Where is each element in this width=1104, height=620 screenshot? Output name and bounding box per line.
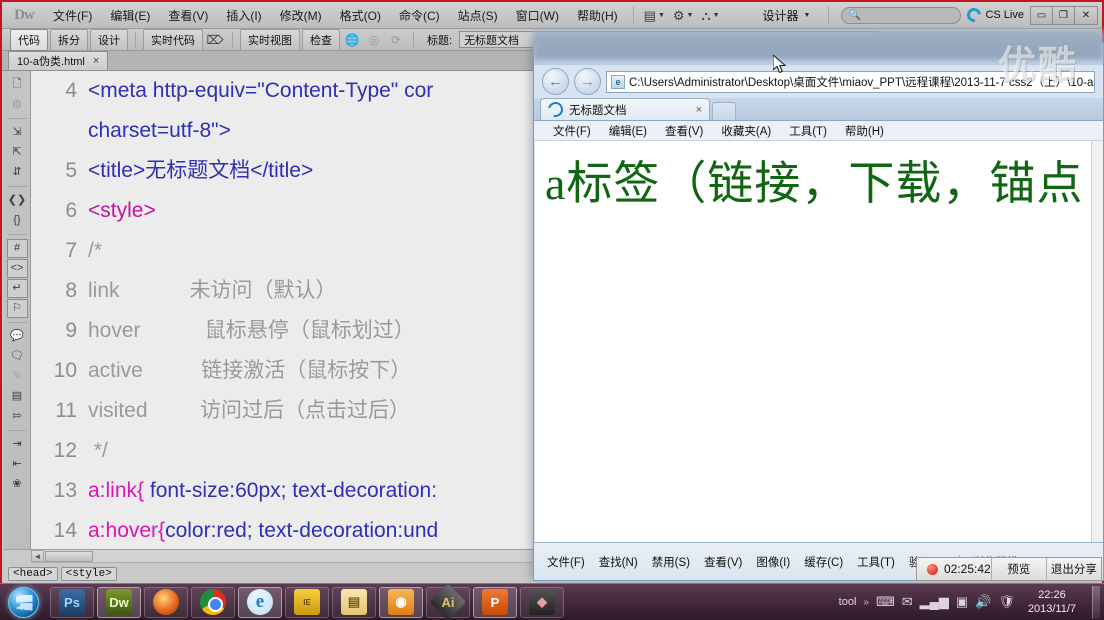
layout-dropdown[interactable]: ▤▼ (640, 7, 669, 24)
extend-dropdown[interactable]: ⚙▼ (669, 7, 698, 24)
code-text[interactable]: <meta http-equiv="Content-Type" cor (88, 71, 433, 111)
minimize-button[interactable]: ▭ (1031, 7, 1053, 24)
balance-braces-icon[interactable]: {} (7, 211, 28, 230)
menu-commands[interactable]: 命令(C) (390, 3, 449, 28)
toolbar-divider (135, 32, 136, 48)
recording-time: 02:25:42 (944, 562, 991, 576)
menu-modify[interactable]: 修改(M) (271, 3, 331, 28)
format-source-code-icon[interactable]: ❀ (7, 475, 28, 494)
line-number: 4 (31, 71, 88, 111)
toolbar-divider (232, 32, 233, 48)
collapse-full-tag-icon[interactable]: ⇲ (7, 123, 28, 142)
cs-live-icon (965, 5, 984, 24)
menu-window[interactable]: 窗口(W) (507, 3, 568, 28)
site-dropdown[interactable]: ⛬▼ (697, 7, 723, 24)
browser-check-icon[interactable]: ◎ (364, 31, 384, 48)
restore-button[interactable]: ❐ (1053, 7, 1075, 24)
chevron-down-icon: ▼ (687, 12, 694, 19)
new-tab-button[interactable] (712, 102, 736, 120)
taskbar-item-dreamweaver[interactable]: Dw (97, 587, 141, 618)
window-controls: ▭ ❐ ✕ (1030, 6, 1098, 25)
code-token: hover 鼠标悬停（鼠标划过） (88, 319, 415, 342)
exit-share-button[interactable]: 退出分享 (1047, 561, 1101, 577)
taskbar-item-ietester[interactable]: IE (285, 587, 329, 618)
workspace-switcher[interactable]: 设计器 ▼ (757, 5, 817, 26)
code-token: link 未访问（默认） (88, 279, 337, 302)
clock-time: 22:26 (1028, 588, 1076, 602)
rail-divider (8, 234, 27, 235)
syntax-error-alerts-icon[interactable]: ⚐ (7, 299, 28, 318)
taskbar-item-powerpoint[interactable]: P (473, 587, 517, 618)
photoshop-icon: Ps (59, 589, 85, 615)
internet-explorer-icon: e (247, 589, 273, 615)
code-token: active 链接激活（鼠标按下） (88, 359, 411, 382)
rail-divider (8, 322, 27, 323)
menu-insert[interactable]: 插入(I) (217, 3, 270, 28)
browser-navigation-row: ← → e C:\Users\Administrator\Desktop\桌面文… (534, 65, 1103, 98)
dreamweaver-icon: Dw (106, 589, 132, 615)
code-token: <style> (88, 199, 156, 222)
remove-comment-icon[interactable]: 🗨 (7, 347, 28, 366)
code-token: */ (88, 439, 108, 462)
code-text[interactable]: a:link{ font-size:60px; text-decoration: (88, 471, 437, 511)
devbar-disable[interactable]: 禁用(S) (645, 552, 697, 572)
workspace-label: 设计器 (763, 7, 799, 24)
taskbar-item-illustrator[interactable]: Ai (426, 587, 470, 618)
code-token: <meta http-equiv="Content-Type" cor (88, 79, 433, 102)
tag-chip-style[interactable]: <style> (61, 567, 117, 581)
dreamweaver-logo-icon: Dw (4, 3, 44, 27)
toolbar-divider (413, 32, 414, 48)
chevron-down-icon: ▼ (804, 12, 811, 19)
devbar-file[interactable]: 文件(F) (540, 552, 592, 572)
monitor-icon[interactable]: ▣ (956, 594, 968, 610)
page-icon: e (611, 75, 625, 89)
browser-window: ← → e C:\Users\Administrator\Desktop\桌面文… (533, 42, 1104, 581)
clock-date: 2013/11/7 (1028, 602, 1076, 616)
refresh-icon[interactable]: ⟳ (386, 31, 406, 48)
code-text[interactable]: <style> (88, 191, 156, 231)
address-text: C:\Users\Administrator\Desktop\桌面文件\miao… (629, 74, 1095, 90)
browser-menu-file[interactable]: 文件(F) (544, 121, 600, 141)
live-code-button[interactable]: 实时代码 (143, 29, 203, 51)
line-number: 6 (31, 191, 88, 231)
windows-logo-icon (8, 587, 39, 618)
icon-glyph: Ai (442, 595, 455, 610)
line-number: 13 (31, 471, 88, 511)
line-number: 8 (31, 271, 88, 311)
view-split-button[interactable]: 拆分 (50, 29, 88, 51)
line-number: 9 (31, 311, 88, 351)
menu-file[interactable]: 文件(F) (44, 3, 101, 28)
page-anchor-link[interactable]: a标签（链接，下载，锚点 (535, 141, 1091, 213)
back-button[interactable]: ← (542, 68, 569, 95)
volume-icon[interactable]: 🔊 (975, 594, 991, 610)
code-text[interactable]: hover 鼠标悬停（鼠标划过） (88, 311, 415, 351)
expand-all-icon[interactable]: ⇵ (7, 163, 28, 182)
preview-button[interactable]: 预览 (992, 561, 1046, 577)
code-token: font-size:60px; text-decoration: (144, 479, 437, 502)
code-text[interactable]: charset=utf-8"> (88, 111, 231, 151)
rail-divider (8, 118, 27, 119)
line-number: 5 (31, 151, 88, 191)
code-token: /* (88, 239, 102, 262)
code-token: color:red; text-decoration:und (165, 519, 438, 542)
code-text[interactable]: <title>无标题文档</title> (88, 151, 313, 191)
menubar-divider (828, 6, 829, 24)
cs-live-button[interactable]: CS Live (967, 8, 1024, 22)
chrome-icon (200, 589, 226, 615)
site-icon: ⛬ (701, 9, 710, 22)
code-text[interactable]: a:hover{color:red; text-decoration:und (88, 511, 438, 549)
rail-divider (8, 430, 27, 431)
code-text[interactable]: /* (88, 231, 102, 271)
gear-icon: ⚙ (673, 9, 685, 22)
browser-menu-favorites[interactable]: 收藏夹(A) (712, 121, 780, 141)
browser-menu-edit[interactable]: 编辑(E) (600, 121, 656, 141)
code-text[interactable]: visited 访问过后（点击过后） (88, 391, 410, 431)
network-icon[interactable]: ▂▄▆ (920, 594, 949, 610)
document-tab[interactable]: 10-a伪类.html × (8, 51, 108, 70)
taskbar: PsDweIE▤◉AiP◆ tool » ⌨ ✉ ▂▄▆ ▣ 🔊 🛡 22:26… (0, 583, 1104, 620)
screen-recorder-icon: ◆ (529, 589, 555, 615)
menu-format[interactable]: 格式(O) (331, 3, 390, 28)
line-numbers-icon[interactable]: # (7, 239, 28, 258)
taskbar-item-photoshop[interactable]: Ps (50, 587, 94, 618)
browser-tab[interactable]: 无标题文档 × (540, 98, 710, 120)
page-content: a标签（链接，下载，锚点 (535, 141, 1091, 542)
devbar-images[interactable]: 图像(I) (749, 552, 797, 572)
inspect-mode-icon[interactable]: ⌦ (205, 31, 225, 48)
scroll-left-icon[interactable]: ◄ (31, 550, 44, 562)
search-input[interactable]: 🔍 (841, 7, 961, 24)
ietester-icon: IE (294, 589, 320, 615)
taskbar-item-webcam[interactable]: ◉ (379, 587, 423, 618)
browser-tab-bar: 无标题文档 × (534, 98, 1103, 121)
tray-expand-icon[interactable]: » (863, 597, 869, 608)
code-token: a:hover{ (88, 519, 165, 542)
view-code-button[interactable]: 代码 (10, 29, 48, 51)
indent-code-icon[interactable]: ⇥ (7, 435, 28, 454)
illustrator-icon: Ai (430, 584, 467, 620)
devbar-cache[interactable]: 缓存(C) (797, 552, 850, 572)
live-view-button[interactable]: 实时视图 (240, 29, 300, 51)
code-token: <title>无标题文档</title> (88, 159, 313, 182)
file-explorer-icon: ▤ (341, 589, 367, 615)
view-design-button[interactable]: 设计 (90, 29, 128, 51)
messages-icon[interactable]: ✉ (902, 594, 913, 610)
line-number: 14 (31, 511, 88, 549)
hscroll-thumb[interactable] (45, 551, 93, 562)
taskbar-item-chrome[interactable] (191, 587, 235, 618)
mouse-cursor-icon (773, 55, 787, 75)
menubar-divider (633, 6, 634, 24)
select-parent-tag-icon[interactable]: ❮❯ (7, 191, 28, 210)
title-field-label: 标题: (427, 32, 452, 48)
collapse-selection-icon[interactable]: ⇱ (7, 143, 28, 162)
cs-live-label: CS Live (985, 9, 1024, 21)
chevron-down-icon: ▼ (658, 12, 665, 19)
rail-divider (8, 186, 27, 187)
outdent-code-icon[interactable]: ⇤ (7, 455, 28, 474)
close-button[interactable]: ✕ (1075, 7, 1097, 24)
system-tray: tool » ⌨ ✉ ▂▄▆ ▣ 🔊 🛡 22:26 2013/11/7 (839, 586, 1104, 619)
page-vertical-scrollbar[interactable] (1091, 141, 1103, 542)
close-icon[interactable]: × (696, 104, 702, 116)
powerpoint-icon: P (482, 589, 508, 615)
menubar-right-group: 设计器 ▼ 🔍 CS Live ▭ ❐ ✕ (757, 5, 1102, 26)
taskbar-item-firefox[interactable] (144, 587, 188, 618)
wrap-tag-icon[interactable]: ✎ (7, 367, 28, 386)
security-icon[interactable]: 🛡 (998, 594, 1015, 610)
start-button[interactable] (3, 586, 43, 619)
code-token: a:link{ (88, 479, 144, 502)
browser-menu-view[interactable]: 查看(V) (656, 121, 712, 141)
menu-edit[interactable]: 编辑(E) (101, 3, 159, 28)
taskbar-item-internet-explorer[interactable]: e (238, 587, 282, 618)
menu-view[interactable]: 查看(V) (159, 3, 217, 28)
code-token: charset=utf-8"> (88, 119, 231, 142)
browser-menubar: 文件(F) 编辑(E) 查看(V) 收藏夹(A) 工具(T) 帮助(H) (534, 121, 1103, 141)
code-text[interactable]: link 未访问（默认） (88, 271, 337, 311)
code-token: visited 访问过后（点击过后） (88, 399, 410, 422)
taskbar-item-file-explorer[interactable]: ▤ (332, 587, 376, 618)
screen-recorder-widget: 02:25:42 预览 退出分享 (916, 557, 1102, 581)
devbar-view[interactable]: 查看(V) (697, 552, 749, 572)
layout-icon: ▤ (644, 9, 656, 22)
line-number: 7 (31, 231, 88, 271)
tag-chip-head[interactable]: <head> (8, 567, 58, 581)
menu-help[interactable]: 帮助(H) (568, 3, 627, 28)
move-css-rules-icon[interactable]: ⇰ (7, 407, 28, 426)
browser-menu-tools[interactable]: 工具(T) (780, 121, 836, 141)
address-bar[interactable]: e C:\Users\Administrator\Desktop\桌面文件\mi… (606, 71, 1095, 93)
show-desktop-button[interactable] (1092, 586, 1100, 619)
forward-button[interactable]: → (574, 68, 601, 95)
taskbar-app-list: PsDweIE▤◉AiP◆ (50, 587, 564, 618)
record-indicator-icon (927, 564, 938, 575)
document-tab-label: 10-a伪类.html (17, 53, 85, 69)
recent-snippets-icon[interactable]: ▤ (7, 387, 28, 406)
line-number: 10 (31, 351, 88, 391)
highlight-invalid-code-icon[interactable]: <> (7, 259, 28, 278)
open-documents-icon[interactable]: 🗋 (7, 75, 28, 94)
browser-menu-help[interactable]: 帮助(H) (836, 121, 893, 141)
background-blur (533, 30, 1104, 60)
devbar-find[interactable]: 查找(N) (592, 552, 645, 572)
line-number: 11 (31, 391, 88, 431)
globe-preview-icon[interactable]: 🌐 (342, 31, 362, 48)
webcam-icon: ◉ (388, 589, 414, 615)
taskbar-item-screen-recorder[interactable]: ◆ (520, 587, 564, 618)
apply-comment-icon[interactable]: 💬 (7, 327, 28, 346)
coding-toolbar-rail: 🗋 ◍ ⇲ ⇱ ⇵ ❮❯ {} # <> ↵ ⚐ 💬 🗨 ✎ ▤ ⇰ ⇥ ⇤ ❀ (4, 71, 31, 549)
word-wrap-icon[interactable]: ↵ (7, 279, 28, 298)
close-icon[interactable]: × (93, 55, 99, 67)
clock[interactable]: 22:26 2013/11/7 (1022, 588, 1082, 616)
keyboard-icon[interactable]: ⌨ (876, 594, 895, 610)
dreamweaver-menubar: Dw 文件(F) 编辑(E) 查看(V) 插入(I) 修改(M) 格式(O) 命… (2, 2, 1102, 29)
chevron-down-icon: ▼ (713, 12, 720, 19)
search-icon: 🔍 (848, 10, 860, 21)
file-management-icon[interactable]: ◍ (7, 95, 28, 114)
devbar-tools[interactable]: 工具(T) (850, 552, 902, 572)
line-number: 12 (31, 431, 88, 471)
menu-site[interactable]: 站点(S) (449, 3, 507, 28)
code-text[interactable]: */ (88, 431, 108, 471)
browser-tab-label: 无标题文档 (569, 102, 627, 118)
screen: Dw 文件(F) 编辑(E) 查看(V) 插入(I) 修改(M) 格式(O) 命… (0, 0, 1104, 620)
inspect-button[interactable]: 检查 (302, 29, 340, 51)
code-text[interactable]: active 链接激活（鼠标按下） (88, 351, 411, 391)
ie-logo-icon (545, 99, 565, 119)
firefox-icon (153, 589, 179, 615)
tray-tool-label[interactable]: tool (839, 596, 857, 608)
